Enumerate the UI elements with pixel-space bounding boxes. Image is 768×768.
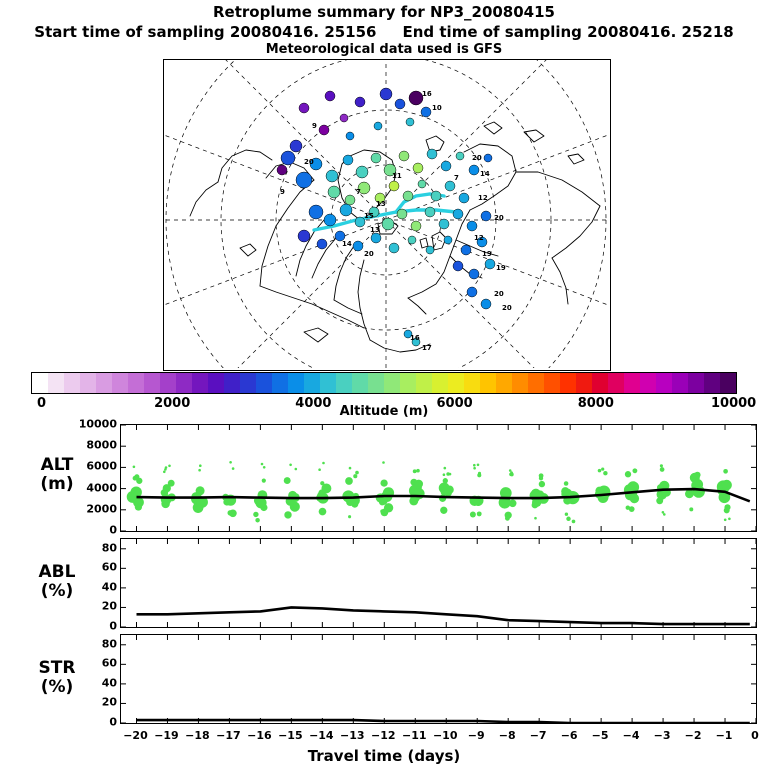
alt-scatter-point (262, 479, 266, 483)
alt-scatter-point (470, 512, 476, 518)
colorbar-swatch (256, 373, 272, 393)
ytick-label: 40 (57, 580, 117, 593)
alt-scatter-point (198, 469, 201, 472)
ytick-label: 40 (57, 676, 117, 689)
alt-scatter-point (539, 473, 544, 478)
colorbar-swatch (720, 373, 736, 393)
colorbar-swatch (32, 373, 48, 393)
xtick-label: −3 (654, 729, 671, 742)
ytick-label: 2000 (57, 502, 117, 515)
alt-scatter-point (322, 462, 325, 465)
xtick-label: −18 (185, 729, 210, 742)
alt-scatter-point (232, 467, 235, 470)
alt-scatter-point (603, 471, 607, 475)
alt-scatter-point (348, 515, 351, 518)
alt-scatter-point (295, 468, 298, 471)
colorbar-swatch (368, 373, 384, 393)
colorbar-swatch (624, 373, 640, 393)
sampling-times: Start time of sampling 20080416. 25156 E… (0, 23, 768, 41)
alt-scatter-point (383, 512, 387, 516)
ytick-label: 0 (57, 524, 117, 537)
alt-scatter-point (509, 469, 512, 472)
xaxis-title: Travel time (days) (0, 747, 768, 765)
page-title: Retroplume summary for NP3_20080415 (0, 3, 768, 21)
ytick-label: 80 (57, 541, 117, 554)
colorbar-swatch (144, 373, 160, 393)
alt-panel (120, 424, 757, 532)
alt-scatter-point (477, 473, 481, 477)
colorbar-gradient (31, 372, 737, 394)
colorbar-swatch (64, 373, 80, 393)
ytick-label: 8000 (57, 439, 117, 452)
travel-time-tick-labels: −20−19−18−17−16−15−14−13−12−11−10−9−8−7−… (120, 729, 757, 743)
xtick-label: −5 (592, 729, 609, 742)
colorbar-swatch (400, 373, 416, 393)
alt-scatter-point (572, 520, 576, 524)
colorbar-swatch (128, 373, 144, 393)
alt-scatter-point (565, 513, 568, 516)
alt-scatter-point (477, 511, 482, 516)
svg-text:19: 19 (482, 250, 492, 258)
alt-scatter-point (444, 467, 447, 470)
alt-scatter-point (440, 507, 447, 514)
colorbar-swatch (576, 373, 592, 393)
xtick-label: −13 (340, 729, 365, 742)
alt-scatter-point (724, 519, 727, 522)
abl-plot-svg (121, 539, 756, 627)
xtick-label: −1 (716, 729, 733, 742)
svg-text:10: 10 (432, 104, 442, 112)
colorbar-swatch (544, 373, 560, 393)
xtick-label: −6 (561, 729, 578, 742)
ytick-label: 20 (57, 696, 117, 709)
alt-scatter-point (413, 469, 417, 473)
alt-scatter-point (473, 467, 476, 470)
alt-scatter-point (199, 464, 202, 467)
ytick-label: 0 (57, 716, 117, 729)
alt-scatter-point (539, 481, 545, 487)
xtick-label: −11 (402, 729, 427, 742)
alt-scatter-point (355, 471, 359, 475)
alt-scatter-point (289, 464, 292, 467)
alt-scatter-point (660, 464, 663, 467)
colorbar-swatch (704, 373, 720, 393)
colorbar-swatch (80, 373, 96, 393)
alt-scatter-point (660, 467, 665, 472)
colorbar-swatch (352, 373, 368, 393)
svg-text:9: 9 (280, 188, 285, 196)
colorbar-swatch (416, 373, 432, 393)
alt-scatter-point (261, 463, 264, 466)
alt-scatter-point (598, 469, 602, 473)
ytick-label: 60 (57, 657, 117, 670)
svg-text:11: 11 (392, 172, 402, 180)
ytick-label: 0 (57, 620, 117, 633)
alt-scatter-point (163, 471, 166, 474)
map-svg: 16 10 20 20 14 11 12 7 13 15 13 20 12 19… (164, 60, 608, 368)
alt-scatter-point (564, 481, 569, 486)
svg-text:7: 7 (356, 188, 361, 196)
alt-scatter-point (168, 465, 171, 468)
colorbar-swatch (208, 373, 224, 393)
abl-panel (120, 538, 757, 628)
ytick-label: 20 (57, 600, 117, 613)
alt-scatter-point (284, 511, 291, 518)
colorbar-swatch (496, 373, 512, 393)
svg-text:13: 13 (370, 226, 380, 234)
alt-scatter-point (477, 464, 480, 467)
str-plot-svg (121, 635, 756, 723)
meteo-data-label: Meteorological data used is GFS (0, 42, 768, 57)
colorbar-swatch (528, 373, 544, 393)
colorbar-swatch (512, 373, 528, 393)
svg-text:19: 19 (496, 264, 506, 272)
end-time-label: End time of sampling 20080416. 25218 (403, 23, 734, 41)
str-ytick-labels: 806040200 (55, 634, 117, 722)
svg-text:12: 12 (478, 194, 488, 202)
alt-scatter-point (722, 482, 731, 491)
colorbar-swatch (336, 373, 352, 393)
alt-scatter-point (353, 474, 357, 478)
colorbar-swatch (560, 373, 576, 393)
alt-scatter-point (566, 517, 570, 521)
colorbar-swatch (160, 373, 176, 393)
svg-text:20: 20 (472, 154, 482, 162)
colorbar-swatch (640, 373, 656, 393)
alt-scatter-point (534, 517, 537, 520)
svg-text:20: 20 (304, 158, 314, 166)
ytick-label: 4000 (57, 481, 117, 494)
svg-text:7: 7 (454, 174, 459, 182)
svg-text:15: 15 (364, 212, 374, 220)
alt-scatter-point (443, 478, 448, 483)
colorbar-swatch (464, 373, 480, 393)
colorbar-swatch (384, 373, 400, 393)
alt-scatter-point (509, 500, 517, 508)
xtick-label: −4 (623, 729, 640, 742)
svg-text:16: 16 (410, 334, 420, 342)
xtick-label: −17 (216, 729, 241, 742)
ytick-label: 6000 (57, 460, 117, 473)
alt-scatter-point (263, 466, 266, 469)
colorbar-swatch (480, 373, 496, 393)
svg-text:20: 20 (502, 304, 512, 312)
alt-ytick-labels: 1000080006000400020000 (55, 424, 117, 530)
str-panel (120, 634, 757, 724)
alt-scatter-point (229, 461, 232, 464)
xtick-label: −2 (685, 729, 702, 742)
header-block: Retroplume summary for NP3_20080415 Star… (0, 0, 768, 57)
colorbar-swatch (112, 373, 128, 393)
colorbar-swatch (176, 373, 192, 393)
alt-scatter-point (164, 468, 167, 471)
colorbar-swatch (608, 373, 624, 393)
alt-scatter-point (632, 468, 637, 473)
colorbar-swatch (432, 373, 448, 393)
xtick-label: −9 (468, 729, 485, 742)
ytick-label: 60 (57, 561, 117, 574)
xtick-label: −8 (499, 729, 516, 742)
svg-text:9: 9 (312, 122, 317, 130)
svg-text:13: 13 (376, 200, 386, 208)
alt-scatter-point (136, 478, 142, 484)
ytick-label: 80 (57, 637, 117, 650)
alt-scatter-point (723, 469, 728, 474)
colorbar-swatch (48, 373, 64, 393)
xtick-label: −15 (278, 729, 303, 742)
svg-text:12: 12 (474, 234, 484, 242)
alt-scatter-point (443, 473, 446, 476)
alt-scatter-point (724, 507, 730, 513)
xtick-label: −7 (530, 729, 547, 742)
xtick-label: −16 (247, 729, 272, 742)
alt-scatter-point (345, 477, 353, 485)
alt-scatter-point (510, 473, 514, 477)
alt-scatter-point (253, 512, 258, 517)
alt-scatter-point (601, 468, 604, 471)
svg-text:14: 14 (342, 240, 352, 248)
alt-scatter-point (133, 466, 136, 469)
colorbar-swatch (592, 373, 608, 393)
alt-scatter-point (318, 468, 321, 471)
alt-scatter-point (629, 506, 635, 512)
colorbar-swatch (656, 373, 672, 393)
alt-scatter-point (662, 511, 665, 514)
xtick-label: 0 (751, 729, 759, 742)
alt-plot-svg (121, 425, 756, 531)
retroplume-map: 16 10 20 20 14 11 12 7 13 15 13 20 12 19… (163, 59, 611, 371)
alt-scatter-point (255, 518, 260, 523)
xtick-label: −19 (154, 729, 179, 742)
alt-scatter-point (446, 472, 450, 476)
colorbar-swatch (288, 373, 304, 393)
svg-text:14: 14 (480, 170, 490, 178)
alt-scatter-point (380, 509, 384, 513)
alt-scatter-point (416, 469, 420, 473)
alt-scatter-point (473, 464, 476, 467)
alt-scatter-point (689, 507, 693, 511)
alt-scatter-point (685, 489, 694, 498)
xtick-label: −12 (371, 729, 396, 742)
alt-scatter-point (441, 489, 448, 496)
abl-ytick-labels: 806040200 (55, 538, 117, 626)
colorbar-swatch (240, 373, 256, 393)
svg-text:17: 17 (422, 344, 432, 352)
alt-scatter-point (284, 477, 291, 484)
colorbar-swatch (688, 373, 704, 393)
colorbar-swatch (96, 373, 112, 393)
alt-scatter-point (382, 461, 385, 464)
ytick-label: 10000 (57, 418, 117, 431)
colorbar-swatch (672, 373, 688, 393)
alt-scatter-point (625, 471, 631, 477)
alt-scatter-point (229, 509, 237, 517)
colorbar-swatch (448, 373, 464, 393)
colorbar-swatch (304, 373, 320, 393)
xtick-label: −14 (309, 729, 334, 742)
colorbar-swatch (224, 373, 240, 393)
alt-scatter-point (380, 479, 387, 486)
alt-scatter-point (319, 508, 327, 516)
xtick-label: −20 (123, 729, 148, 742)
alt-scatter-point (505, 512, 512, 519)
svg-text:20: 20 (494, 214, 504, 222)
alt-scatter-point (349, 467, 352, 470)
colorbar-swatch (272, 373, 288, 393)
colorbar-swatch (320, 373, 336, 393)
svg-text:16: 16 (422, 90, 432, 98)
xtick-label: −10 (433, 729, 458, 742)
colorbar-swatch (192, 373, 208, 393)
start-time-label: Start time of sampling 20080416. 25156 (34, 23, 376, 41)
svg-text:20: 20 (364, 250, 374, 258)
svg-text:20: 20 (494, 290, 504, 298)
alt-scatter-point (728, 518, 731, 521)
